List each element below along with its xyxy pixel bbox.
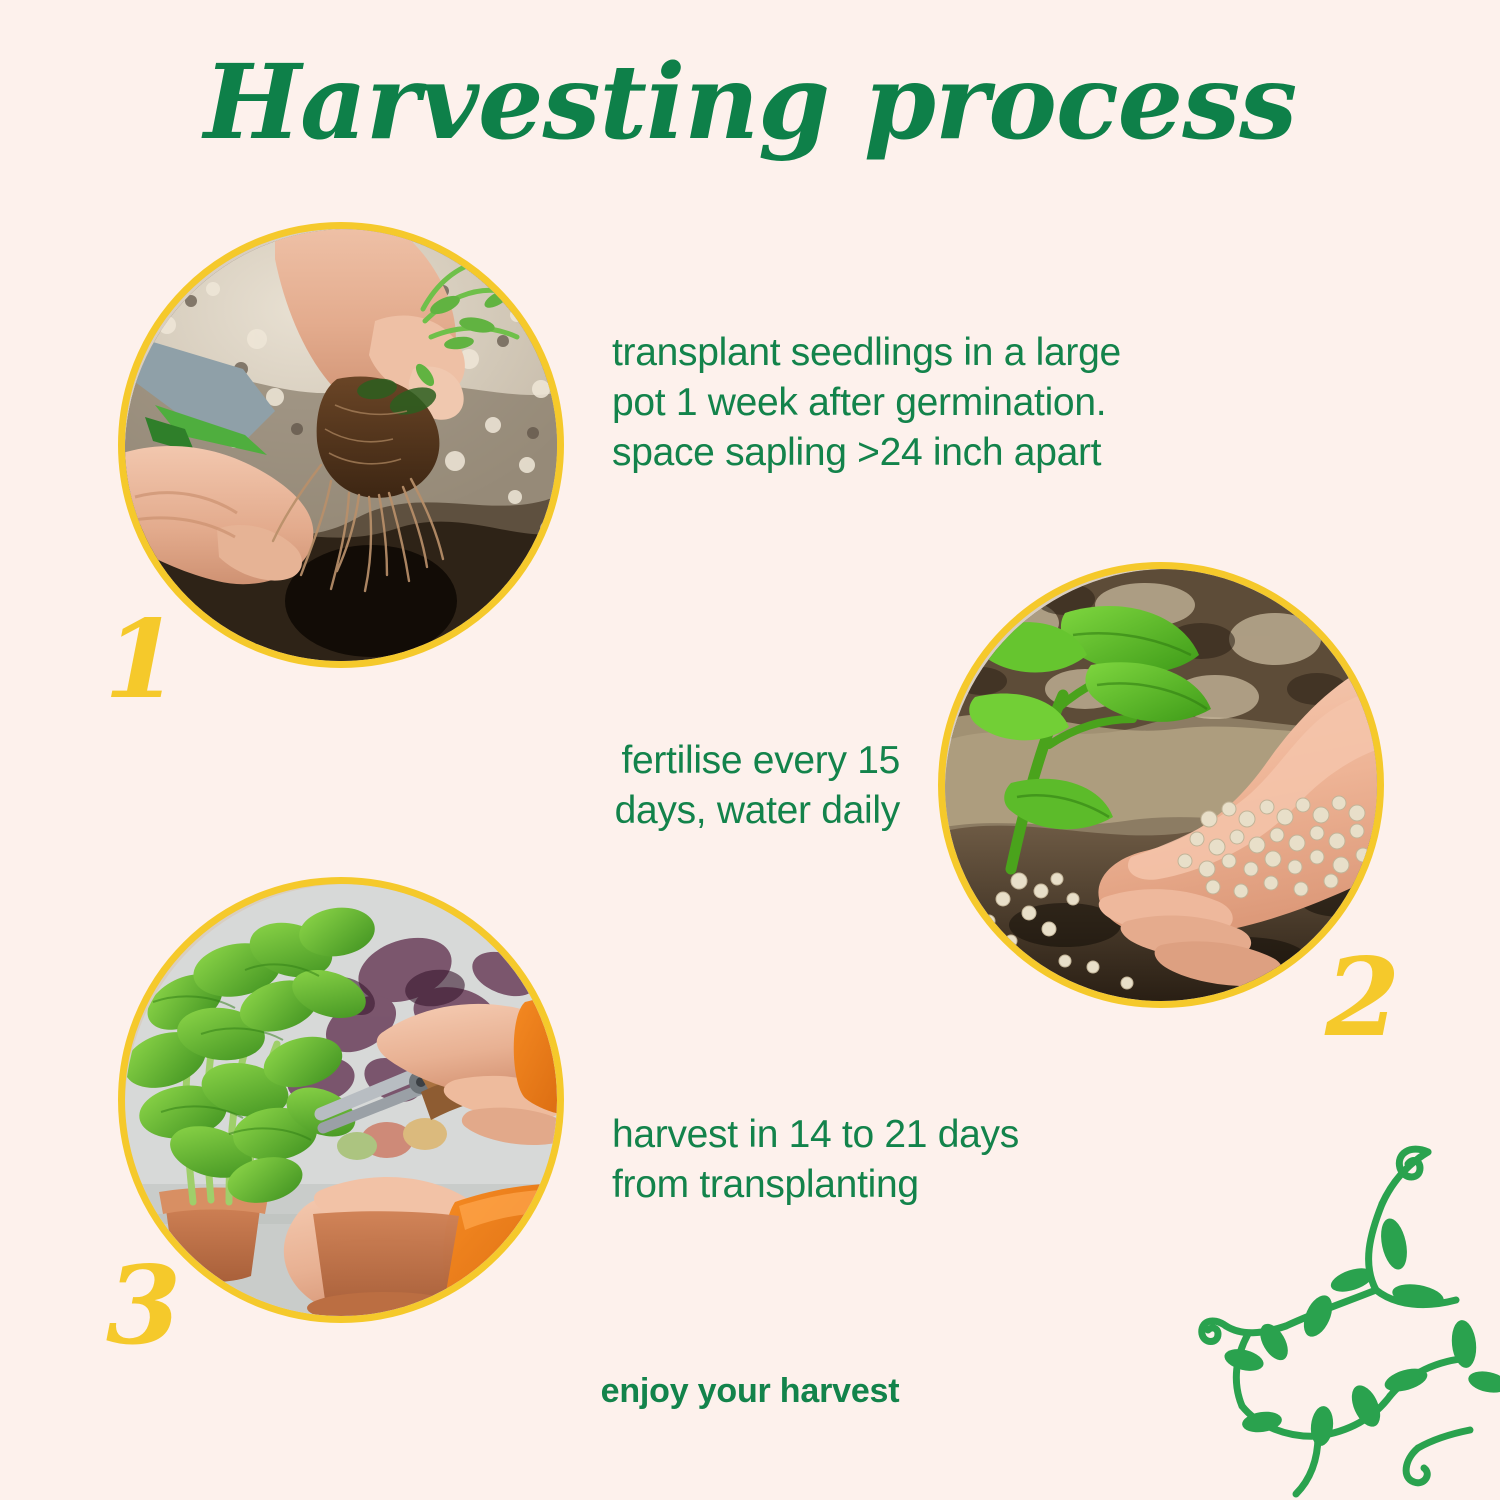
photo-2-image bbox=[945, 569, 1377, 1001]
infographic-canvas: Harvesting process bbox=[0, 0, 1500, 1500]
step-caption-3: harvest in 14 to 21 days from transplant… bbox=[612, 1110, 1232, 1210]
step-number-3: 3 bbox=[106, 1252, 181, 1360]
step-number-2: 2 bbox=[1325, 944, 1400, 1052]
step-number-1: 1 bbox=[104, 606, 179, 714]
photo-3-image bbox=[125, 884, 557, 1316]
step-caption-1: transplant seedlings in a large pot 1 we… bbox=[612, 328, 1272, 478]
photo-harvesting-basil bbox=[118, 877, 564, 1323]
photo-transplanting-seedling bbox=[118, 222, 564, 668]
page-title: Harvesting process bbox=[0, 46, 1500, 159]
step-caption-2: fertilise every 15 days, water daily bbox=[480, 736, 900, 836]
photo-1-image bbox=[125, 229, 557, 661]
transplanting-illustration bbox=[125, 229, 557, 661]
fertilising-illustration bbox=[945, 569, 1377, 1001]
photo-fertilising-seedling bbox=[938, 562, 1384, 1008]
footer-text: enjoy your harvest bbox=[0, 1372, 1500, 1411]
harvesting-illustration bbox=[125, 884, 557, 1316]
